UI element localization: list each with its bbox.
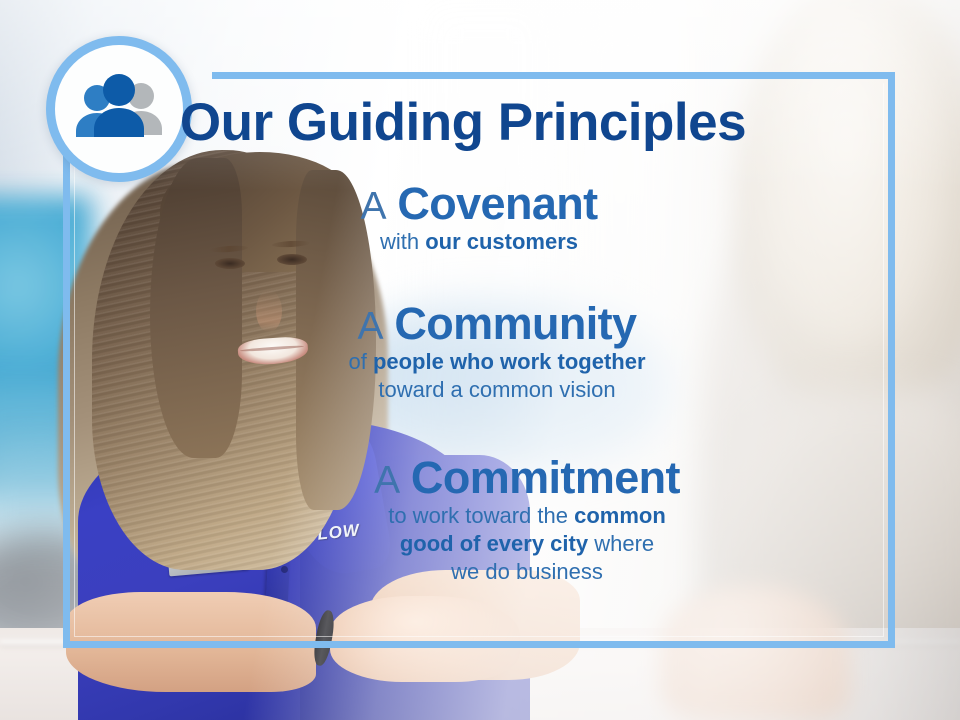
associate-hair-front-right [296, 170, 376, 510]
blurred-customer-hand [660, 585, 850, 720]
guiding-principles-banner: FLOW AUTOMOTIVE FLOW [0, 0, 960, 720]
associate-hair-front-left [150, 158, 242, 458]
group-badge [46, 36, 192, 182]
associate-arm-left [66, 592, 316, 692]
nose [256, 290, 282, 332]
eye-right [277, 254, 307, 265]
blurred-customer-hair-highlight [767, 10, 932, 340]
shirt-button-bottom [281, 566, 288, 573]
eye-left [215, 258, 245, 269]
associate-hands [330, 596, 520, 682]
group-of-people-icon [71, 73, 167, 145]
